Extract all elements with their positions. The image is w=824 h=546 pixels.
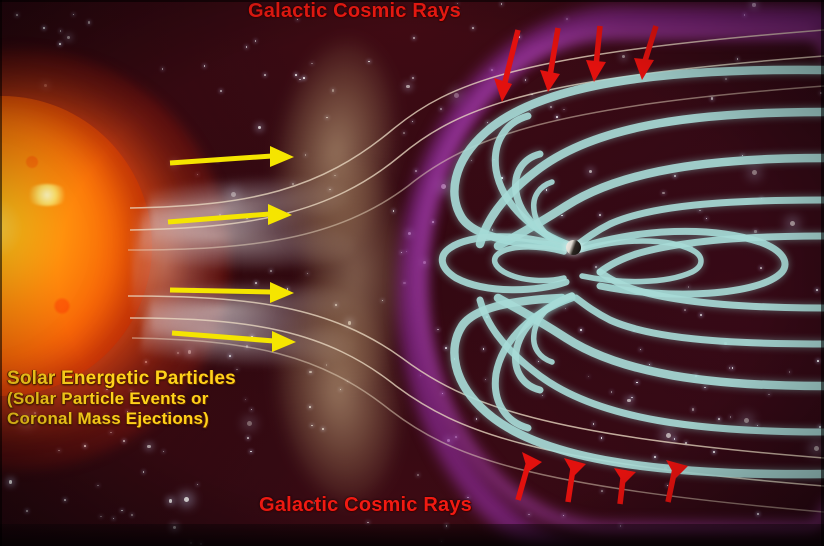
sep-subtitle-line-1: (Solar Particle Events or	[7, 389, 236, 409]
left-edge	[0, 0, 2, 546]
red-arrow	[518, 452, 542, 500]
solar-wind-streamlines	[128, 30, 824, 512]
red-arrow	[634, 26, 656, 80]
yellow-arrow	[168, 204, 292, 225]
bottom-letterbox-bar	[0, 524, 824, 546]
label-galactic-cosmic-rays-top: Galactic Cosmic Rays	[248, 0, 461, 23]
red-arrow	[540, 28, 560, 92]
sep-subtitle-line-2: Coronal Mass Ejections)	[7, 409, 236, 429]
yellow-arrow	[170, 146, 294, 167]
top-edge	[0, 0, 824, 2]
label-solar-energetic-particles: Solar Energetic Particles (Solar Particl…	[7, 368, 236, 429]
yellow-arrow	[172, 331, 296, 352]
space-weather-diagram: Galactic Cosmic Rays Galactic Cosmic Ray…	[0, 0, 824, 546]
sep-title: Solar Energetic Particles	[7, 368, 236, 389]
red-arrow	[614, 468, 636, 504]
field-line	[495, 247, 564, 281]
earth	[566, 240, 581, 255]
label-galactic-cosmic-rays-bottom: Galactic Cosmic Rays	[259, 494, 472, 517]
red-arrow	[494, 30, 518, 102]
magnetic-field-lines	[442, 70, 824, 474]
vector-overlay	[0, 0, 824, 546]
